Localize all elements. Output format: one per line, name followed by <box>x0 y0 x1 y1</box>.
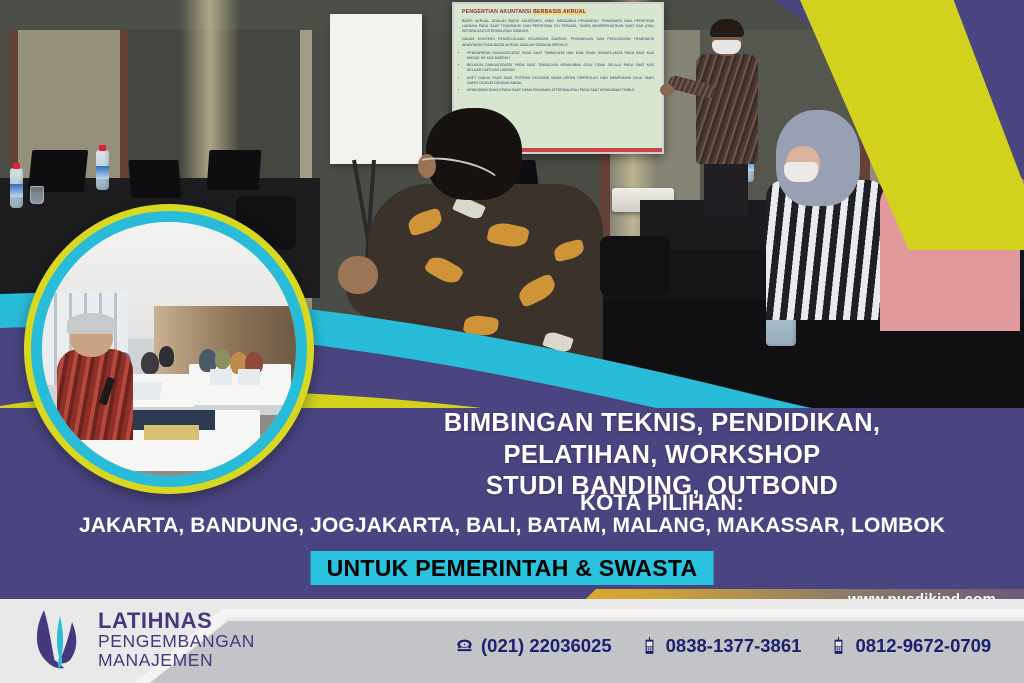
promotional-banner: PENGERTIAN AKUNTANSI BERBASIS AKRUAL BAS… <box>0 0 1024 683</box>
inset-participant <box>159 346 174 366</box>
circular-photo-ring <box>31 211 307 487</box>
mobile-phone-icon <box>640 635 659 657</box>
contact-list: (021) 22036025 0838-1377-3861 <box>455 635 991 657</box>
slide-body: BASIS AKRUAL ADALAH BASIS AKUNTANSI YANG… <box>454 19 662 93</box>
logo-subtitle-2: MANAJEMEN <box>98 651 255 670</box>
inset-laptop <box>210 369 233 384</box>
laptop <box>207 150 262 190</box>
logo-name: LATIHNAS <box>98 609 255 632</box>
headline-line-2: PELATIHAN, WORKSHOP <box>300 440 1024 472</box>
inset-participant <box>141 352 159 375</box>
logo-wordmark: LATIHNAS PENGEMBANGAN MANAJEMEN <box>98 609 255 669</box>
presenter-legs <box>704 160 748 216</box>
cities-label: KOTA PILIHAN: <box>300 490 1024 516</box>
participant-face-mask <box>784 162 818 182</box>
company-logo[interactable]: LATIHNAS PENGEMBANGAN MANAJEMEN <box>30 606 255 672</box>
telephone-icon <box>455 635 474 657</box>
contact-mobile-2[interactable]: 0812-9672-0709 <box>829 635 991 657</box>
contact-mobile-number-2: 0812-9672-0709 <box>855 635 991 657</box>
circular-inset-photo <box>42 222 296 476</box>
flame-leaf-logo-icon <box>30 606 86 672</box>
presenter-hand <box>660 84 674 96</box>
contact-phone-number: (021) 22036025 <box>481 635 612 657</box>
contact-mobile-1[interactable]: 0838-1377-3861 <box>640 635 802 657</box>
circular-photo-frame <box>24 204 314 494</box>
inset-table-gold <box>144 425 200 440</box>
inset-participant <box>215 349 230 369</box>
presenter-batik-shirt <box>696 54 758 164</box>
water-bottle <box>10 168 23 208</box>
headline: BIMBINGAN TEKNIS, PENDIDIKAN, PELATIHAN,… <box>300 408 1024 503</box>
logo-subtitle-1: PENGEMBANGAN <box>98 632 255 651</box>
inset-speaker-body <box>57 349 133 440</box>
inset-speaker-hair <box>67 313 115 333</box>
presenter-glasses <box>712 33 742 39</box>
inset-laptop <box>132 382 162 400</box>
mobile-phone-icon <box>829 635 848 657</box>
contact-phone[interactable]: (021) 22036025 <box>455 635 612 657</box>
water-bottle <box>96 150 109 190</box>
inset-laptop <box>238 369 261 384</box>
cities-list: JAKARTA, BANDUNG, JOGJAKARTA, BALI, BATA… <box>40 514 984 538</box>
headline-line-1: BIMBINGAN TEKNIS, PENDIDIKAN, <box>300 408 1024 440</box>
cta-badge: UNTUK PEMERINTAH & SWASTA <box>311 551 714 587</box>
presenter-face-mask <box>712 40 741 54</box>
drinking-glass <box>30 186 44 204</box>
contact-mobile-number-1: 0838-1377-3861 <box>666 635 802 657</box>
slide-title: PENGERTIAN AKUNTANSI BERBASIS AKRUAL <box>454 4 662 19</box>
laptop <box>128 160 181 198</box>
presenter-person <box>690 22 762 212</box>
